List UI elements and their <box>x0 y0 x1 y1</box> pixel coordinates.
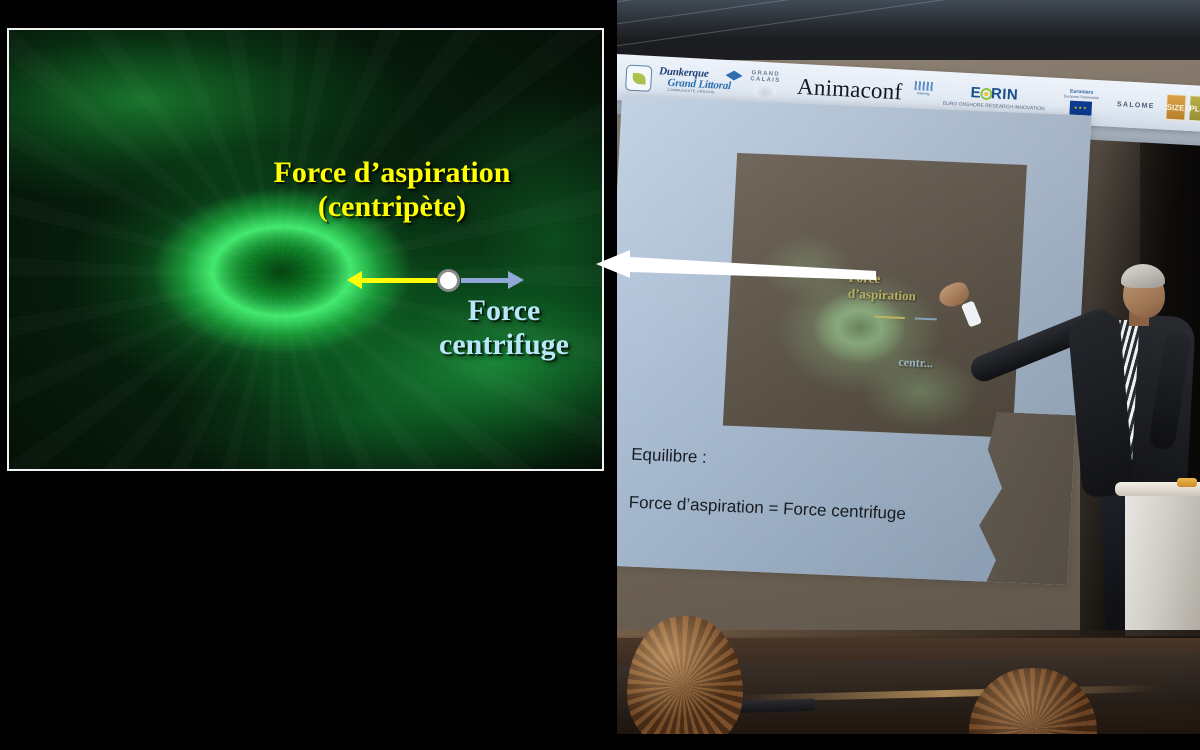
slide-text-block: Equilibre : Force d’aspiration = Force c… <box>628 445 1031 530</box>
eu-flag-icon <box>1069 101 1092 116</box>
dunkerque-logo: Dunkerque Grand Littoral COMMUNAUTE URBA… <box>658 67 744 97</box>
photo-bottom-letterbox <box>617 734 1200 750</box>
slide-heading-equilibre: Equilibre : <box>631 445 1032 482</box>
screenshot-root: Force d’aspiration (centripète) Force ce… <box>0 0 1200 750</box>
centrifugal-arrow-icon <box>461 278 509 283</box>
leaf-mark-logo <box>625 65 652 92</box>
table-item <box>1177 478 1197 487</box>
eorin-logo: E RIN EURO ONSHORE RESEARCH INNOVATION <box>943 83 1046 112</box>
vortex-figure: Force d’aspiration (centripète) Force ce… <box>7 28 604 471</box>
slide-vortex-image <box>753 232 993 431</box>
force-vector-group <box>361 264 521 300</box>
grand-calais-line2: CALAIS <box>750 76 780 84</box>
salome-label: SALOME <box>1117 101 1155 110</box>
banner-title: Animaconf <box>796 74 903 106</box>
calais-mark-icon <box>753 83 776 99</box>
slide-image-frame: Force d’aspiration centr... <box>723 153 1027 438</box>
conference-photo-panel: Dunkerque Grand Littoral COMMUNAUTE URBA… <box>617 0 1200 750</box>
eurostars-logo: Eurostars European Partnership <box>1051 87 1110 117</box>
speaker-hair <box>1121 264 1165 288</box>
interreg-label: Interreg <box>917 91 930 96</box>
salome-logo: SALOME <box>1117 101 1155 110</box>
interreg-mark-icon <box>914 81 932 91</box>
eorin-label-after: RIN <box>991 85 1019 103</box>
interreg-logo: Interreg <box>910 81 937 106</box>
vortex-diagram-panel: Force d’aspiration (centripète) Force ce… <box>0 0 617 750</box>
ceiling-light-glow <box>617 0 1200 40</box>
grand-calais-logo: GRAND CALAIS <box>749 70 781 100</box>
olive-box-logo: PLUS <box>1188 95 1200 122</box>
vortex-image <box>9 30 602 469</box>
particle-marker-icon <box>437 269 460 292</box>
centripetal-arrow-icon <box>361 278 437 283</box>
slide-equation: Force d’aspiration = Force centrifuge <box>628 493 1029 530</box>
orange-box-logo: SIZE <box>1165 94 1186 121</box>
